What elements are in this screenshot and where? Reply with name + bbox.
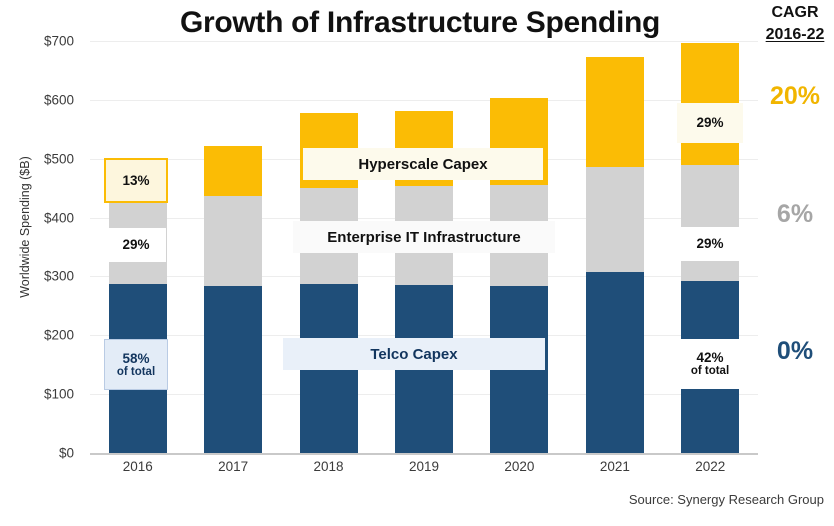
callout-telco-2016: 58% of total [104, 339, 168, 390]
bar-segment [586, 167, 644, 272]
callout-enterprise-2022: 29% [677, 227, 743, 261]
series-label-hyperscale: Hyperscale Capex [303, 148, 543, 180]
cagr-heading-line1: CAGR [756, 4, 834, 22]
x-axis-tick-label: 2016 [90, 459, 185, 474]
callout-subtext: of total [117, 366, 155, 379]
callout-value: 29% [696, 236, 723, 251]
x-axis-tick-label: 2020 [472, 459, 567, 474]
page-title: Growth of Infrastructure Spending [110, 6, 730, 40]
y-axis-tick-label: $100 [12, 387, 74, 402]
x-axis-tick-label: 2018 [281, 459, 376, 474]
cagr-value-telco: 0% [756, 337, 834, 366]
bar-column-2017 [204, 41, 262, 453]
callout-hyperscale-2016: 13% [104, 158, 168, 203]
y-axis-tick-label: $700 [12, 34, 74, 49]
y-axis-tick-label: $300 [12, 269, 74, 284]
bar-column-2021 [586, 41, 644, 453]
cagr-heading-line2: 2016-22 [756, 26, 834, 44]
x-axis-tick-label: 2022 [663, 459, 758, 474]
cagr-panel: CAGR 2016-22 20% 6% 0% [756, 0, 834, 470]
x-axis-tick-label: 2017 [185, 459, 280, 474]
y-axis-tick-label: $600 [12, 92, 74, 107]
callout-value: 42% [696, 350, 723, 365]
callout-telco-2022: 42% of total [677, 339, 743, 389]
callout-value: 29% [696, 115, 723, 130]
bar-segment [586, 57, 644, 167]
y-axis-tick-label: $200 [12, 328, 74, 343]
x-axis-tick-label: 2021 [567, 459, 662, 474]
chart-page: Growth of Infrastructure Spending Worldw… [0, 0, 834, 526]
y-axis-tick-label: $0 [12, 446, 74, 461]
bar-segment [204, 196, 262, 285]
bar-segment [204, 146, 262, 196]
gridline [90, 453, 758, 455]
callout-subtext: of total [691, 365, 729, 378]
series-label-enterprise: Enterprise IT Infrastructure [293, 221, 555, 253]
callout-value: 58% [122, 351, 149, 366]
bar-segment [586, 272, 644, 453]
callout-hyperscale-2022: 29% [677, 103, 743, 143]
x-axis-tick-label: 2019 [376, 459, 471, 474]
y-axis-tick-label: $500 [12, 151, 74, 166]
callout-enterprise-2016: 29% [106, 228, 166, 262]
bar-segment [204, 286, 262, 453]
cagr-value-hyperscale: 20% [756, 82, 834, 111]
plot-area: $700$600$500$400$300$200$100$0 201620172… [90, 41, 758, 453]
y-axis-tick-label: $400 [12, 210, 74, 225]
cagr-value-enterprise: 6% [756, 200, 834, 229]
source-note: Source: Synergy Research Group [629, 492, 824, 507]
callout-value: 13% [122, 173, 149, 188]
series-label-telco: Telco Capex [283, 338, 545, 370]
y-axis-title: Worldwide Spending ($B) [18, 117, 32, 337]
callout-value: 29% [122, 237, 149, 252]
bar-segment [681, 165, 739, 282]
